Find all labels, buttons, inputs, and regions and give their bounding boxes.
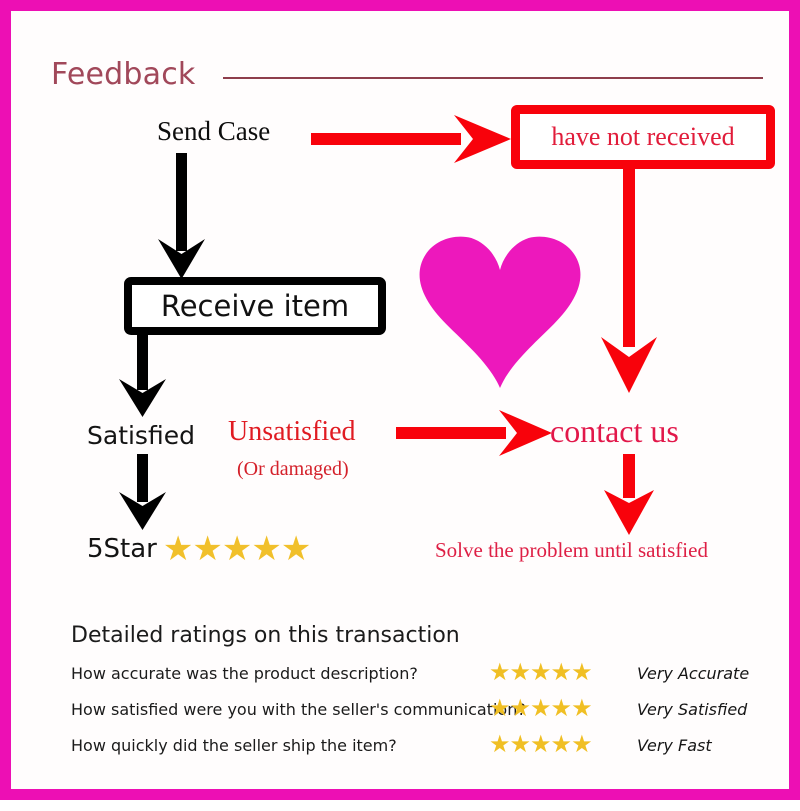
- arrow-right-icon-unsatisfied: [396, 410, 552, 456]
- flow-node-contact-us: contact us: [550, 413, 679, 450]
- arrow-down-icon-satisfied: [119, 335, 166, 417]
- infographic-frame: Feedback: [0, 0, 800, 800]
- flow-box-have-not-received-label: have not received: [551, 122, 734, 152]
- infographic-canvas: Feedback: [11, 11, 789, 789]
- flow-box-have-not-received[interactable]: have not received: [511, 105, 775, 169]
- arrow-down-icon-fivestar: [119, 454, 166, 530]
- arrow-down-icon-contact: [601, 167, 657, 393]
- flow-box-receive-item[interactable]: Receive item: [124, 277, 386, 335]
- arrow-down-icon-receive: [158, 153, 205, 279]
- flow-box-receive-item-label: Receive item: [161, 289, 349, 323]
- flow-node-solve-problem: Solve the problem until satisfied: [435, 538, 708, 563]
- arrow-down-icon-solve: [604, 454, 654, 535]
- heart-icon: [415, 233, 585, 393]
- arrow-right-icon-send-case: [311, 115, 511, 163]
